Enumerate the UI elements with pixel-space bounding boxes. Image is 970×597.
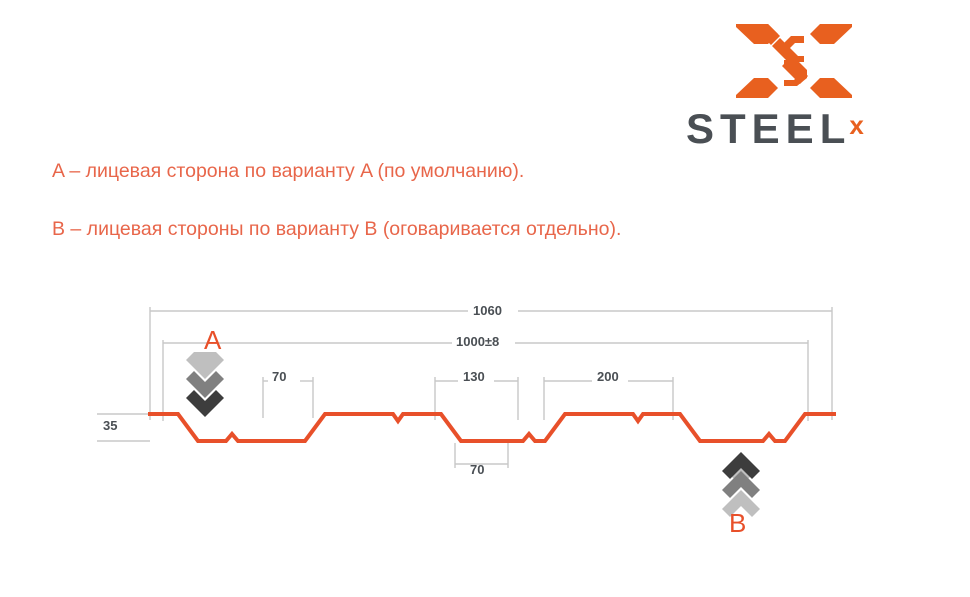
dim-label-useful-width: 1000±8 xyxy=(456,334,499,349)
dim-label-pitch-200: 200 xyxy=(597,369,619,384)
dim-label-crest-top: 70 xyxy=(272,369,286,384)
profile-technical-drawing xyxy=(0,0,970,597)
profile-cross-section xyxy=(148,414,836,441)
dim-label-overall-width: 1060 xyxy=(473,303,502,318)
screenshot-root: STEEL x A – лицевая сторона по варианту … xyxy=(0,0,970,597)
marker-a-label: A xyxy=(204,325,221,356)
dim-label-profile-height: 35 xyxy=(103,418,117,433)
marker-b-label: B xyxy=(729,508,746,539)
dim-label-pitch-130: 130 xyxy=(463,369,485,384)
marker-a-chevrons xyxy=(186,352,224,417)
dim-label-valley-bottom: 70 xyxy=(470,462,484,477)
